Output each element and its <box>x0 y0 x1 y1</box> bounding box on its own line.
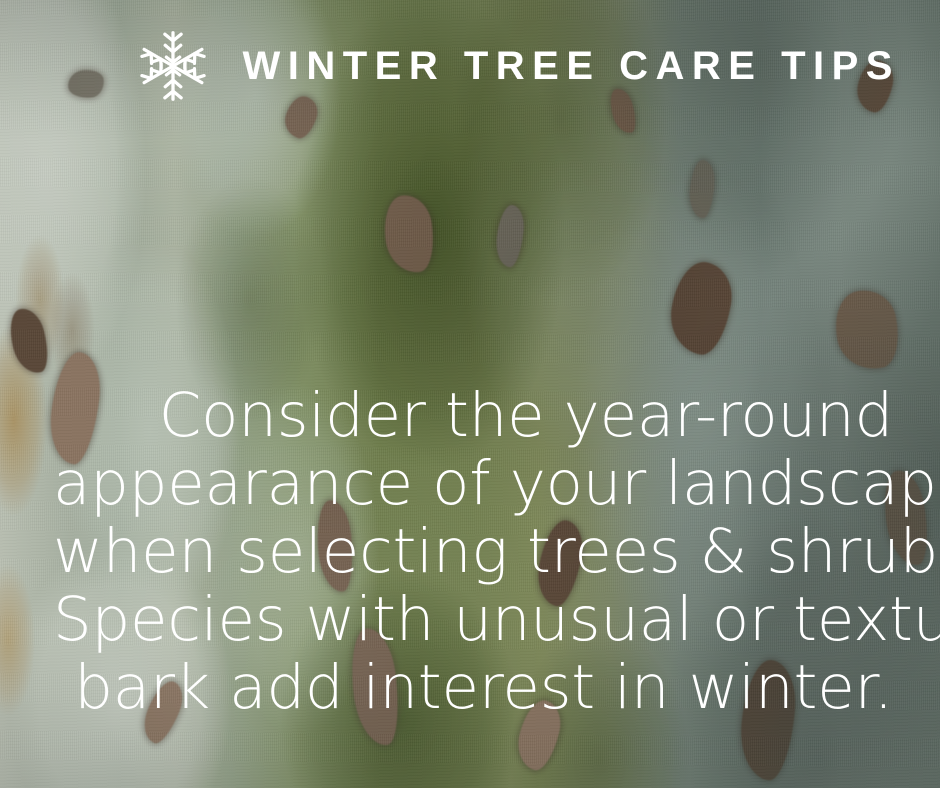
snowflake-icon <box>136 29 210 103</box>
headline-line-2: appearance of your landscape <box>53 450 893 518</box>
header-bar: WINTER TREE CARE TIPS <box>0 26 940 106</box>
headline-line-1: Consider the year-round <box>53 382 893 450</box>
headline-line-5: bark add interest in winter. <box>53 654 893 722</box>
headline-line-3: when selecting trees & shrubs. <box>53 518 893 586</box>
page-title: WINTER TREE CARE TIPS <box>242 46 900 86</box>
headline-text-block: Consider the year-round appearance of yo… <box>53 382 893 722</box>
headline-line-4: Species with unusual or textured <box>53 586 893 654</box>
poster-canvas: WINTER TREE CARE TIPS Consider the year-… <box>0 0 940 788</box>
